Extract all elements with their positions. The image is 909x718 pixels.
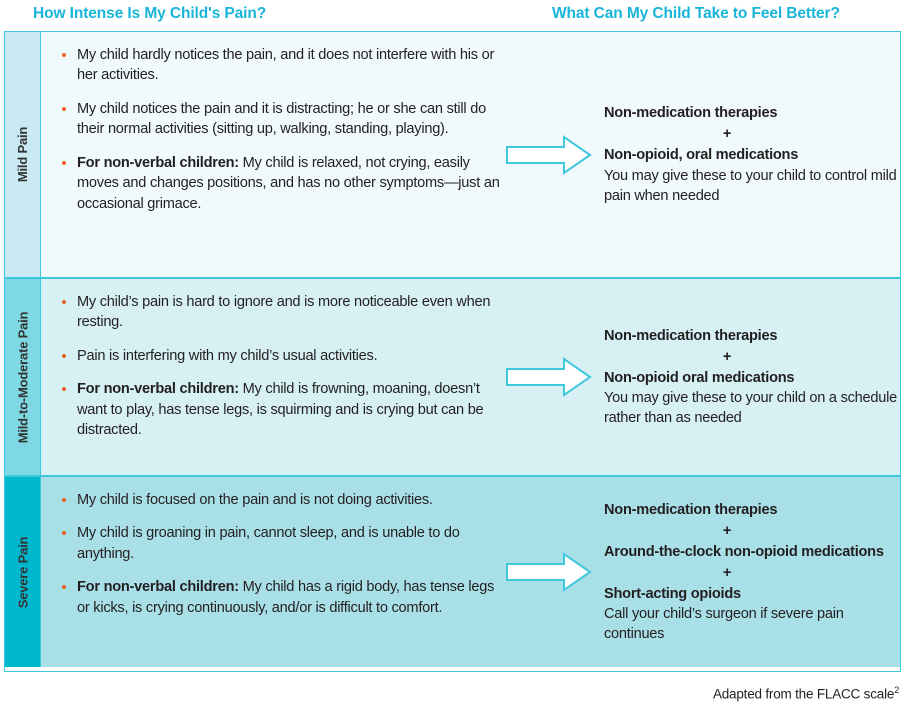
symptoms-cell-mild: My child hardly notices the pain, and it… xyxy=(41,32,501,277)
source-attribution: Adapted from the FLACC scale2 xyxy=(713,685,899,702)
arrow-cell-mild xyxy=(501,32,596,277)
treatment-line-1: Non-medication therapies xyxy=(604,326,900,346)
treatment-plus-1: + xyxy=(604,521,850,541)
bullet-text: Pain is interfering with my child’s usua… xyxy=(77,348,377,364)
list-item: My child is groaning in pain, cannot sle… xyxy=(59,523,501,564)
treatment-line-3: Short-acting opioids xyxy=(604,584,900,604)
pain-level-label: Severe Pain xyxy=(15,536,30,608)
page-title-left: How Intense Is My Child's Pain? xyxy=(33,5,266,23)
arrow-right-icon xyxy=(506,134,592,176)
pain-level-label: Mild Pain xyxy=(15,127,30,182)
treatment-cell-severe: Non-medication therapies + Around-the-cl… xyxy=(596,477,900,667)
pain-level-tab-mild-to-moderate: Mild-to-Moderate Pain xyxy=(5,279,41,475)
list-item: Pain is interfering with my child’s usua… xyxy=(59,346,501,366)
list-item: My child’s pain is hard to ignore and is… xyxy=(59,292,501,333)
arrow-cell-mild-to-moderate xyxy=(501,279,596,475)
pain-level-tab-mild: Mild Pain xyxy=(5,32,41,277)
list-item: For non-verbal children: My child is fro… xyxy=(59,379,501,440)
symptom-list-mild: My child hardly notices the pain, and it… xyxy=(59,45,501,214)
bullet-text: My child’s pain is hard to ignore and is… xyxy=(77,294,490,330)
list-item: For non-verbal children: My child is rel… xyxy=(59,153,501,214)
arrow-right-icon xyxy=(506,356,592,398)
treatment-cell-mild: Non-medication therapies + Non-opioid, o… xyxy=(596,32,900,277)
bullet-lead: For non-verbal children: xyxy=(77,579,239,595)
bullet-lead: For non-verbal children: xyxy=(77,155,239,171)
treatment-note: You may give these to your child to cont… xyxy=(604,166,900,206)
footer-text: Adapted from the FLACC scale xyxy=(713,686,894,701)
page-title-right: What Can My Child Take to Feel Better? xyxy=(552,5,840,23)
bullet-lead: For non-verbal children: xyxy=(77,381,239,397)
list-item: For non-verbal children: My child has a … xyxy=(59,577,501,618)
treatment-line-1: Non-medication therapies xyxy=(604,500,900,520)
symptoms-cell-severe: My child is focused on the pain and is n… xyxy=(41,477,501,667)
treatment-line-2: Non-opioid oral medications xyxy=(604,368,900,388)
footnote-marker: 2 xyxy=(894,685,899,695)
table-row-severe-pain: Severe Pain My child is focused on the p… xyxy=(5,477,900,667)
pain-scale-table: Mild Pain My child hardly notices the pa… xyxy=(4,31,901,672)
bullet-text: My child notices the pain and it is dist… xyxy=(77,101,486,137)
pain-level-tab-severe: Severe Pain xyxy=(5,477,41,667)
symptom-list-severe: My child is focused on the pain and is n… xyxy=(59,490,501,618)
bullet-text: My child hardly notices the pain, and it… xyxy=(77,47,494,83)
header-row: How Intense Is My Child's Pain? What Can… xyxy=(0,0,909,30)
pain-level-label: Mild-to-Moderate Pain xyxy=(15,311,30,443)
treatment-line-1: Non-medication therapies xyxy=(604,103,900,123)
list-item: My child hardly notices the pain, and it… xyxy=(59,45,501,86)
treatment-plus-1: + xyxy=(604,347,850,367)
treatment-line-2: Around-the-clock non-opioid medications xyxy=(604,542,900,562)
treatment-line-2: Non-opioid, oral medications xyxy=(604,145,900,165)
bullet-text: My child is focused on the pain and is n… xyxy=(77,492,433,508)
arrow-right-icon xyxy=(506,551,592,593)
list-item: My child notices the pain and it is dist… xyxy=(59,99,501,140)
treatment-plus-2: + xyxy=(604,563,850,583)
table-row-mild-pain: Mild Pain My child hardly notices the pa… xyxy=(5,32,900,277)
bullet-text: My child is groaning in pain, cannot sle… xyxy=(77,525,460,561)
arrow-cell-severe xyxy=(501,477,596,667)
treatment-cell-mild-to-moderate: Non-medication therapies + Non-opioid or… xyxy=(596,279,900,475)
symptom-list-mild-to-moderate: My child’s pain is hard to ignore and is… xyxy=(59,292,501,441)
symptoms-cell-mild-to-moderate: My child’s pain is hard to ignore and is… xyxy=(41,279,501,475)
list-item: My child is focused on the pain and is n… xyxy=(59,490,501,510)
treatment-note: Call your child’s surgeon if severe pain… xyxy=(604,604,900,644)
treatment-note: You may give these to your child on a sc… xyxy=(604,388,900,428)
table-row-mild-to-moderate-pain: Mild-to-Moderate Pain My child’s pain is… xyxy=(5,277,900,477)
treatment-plus-1: + xyxy=(604,124,850,144)
